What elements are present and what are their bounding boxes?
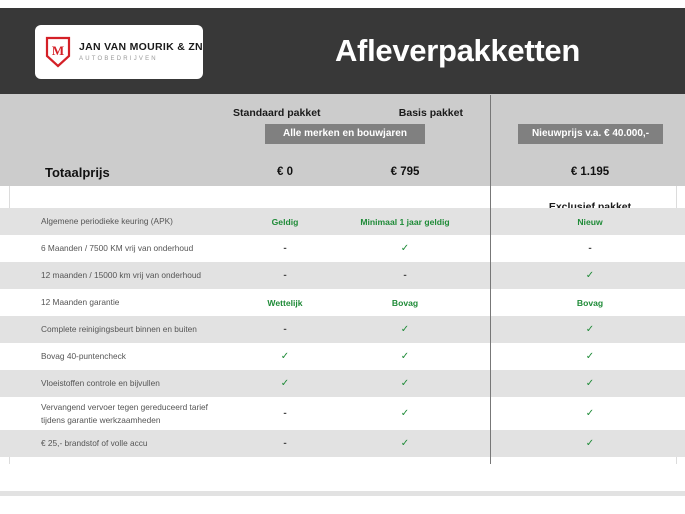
- table-row: Vervangend vervoer tegen gereduceerd tar…: [0, 397, 685, 430]
- cell-basis: ✓: [345, 430, 465, 457]
- badge-alle-merken: Alle merken en bouwjaren: [265, 124, 425, 144]
- table-row: Complete reinigingsbeurt binnen en buite…: [0, 316, 685, 343]
- total-price-standaard: € 0: [230, 166, 340, 178]
- feature-table: Algemene periodieke keuring (APK)GeldigM…: [0, 208, 685, 457]
- cell-standaard: -: [230, 316, 340, 343]
- cell-basis: ✓: [345, 235, 465, 262]
- row-label-line: tijdens garantie werkzaamheden: [41, 414, 208, 426]
- row-label: Bovag 40-puntencheck: [41, 343, 126, 370]
- cell-exclusief: ✓: [495, 262, 685, 289]
- row-label: Algemene periodieke keuring (APK): [41, 208, 173, 235]
- row-label-line: Bovag 40-puntencheck: [41, 350, 126, 362]
- column-heading-standaard: Standaard pakket: [233, 107, 321, 119]
- total-price-row: Totaalprijs € 0 € 795 € 1.195: [0, 158, 685, 186]
- cell-standaard: ✓: [230, 343, 340, 370]
- row-label-line: Vervangend vervoer tegen gereduceerd tar…: [41, 401, 208, 413]
- total-price-basis: € 795: [345, 166, 465, 178]
- table-row: Vloeistoffen controle en bijvullen✓✓✓: [0, 370, 685, 397]
- cell-standaard: -: [230, 235, 340, 262]
- row-label: 12 maanden / 15000 km vrij van onderhoud: [41, 262, 201, 289]
- row-label: Vervangend vervoer tegen gereduceerd tar…: [41, 397, 208, 430]
- row-label: 12 Maanden garantie: [41, 289, 119, 316]
- table-row: Bovag 40-puntencheck✓✓✓: [0, 343, 685, 370]
- cell-exclusief: ✓: [495, 316, 685, 343]
- cell-basis: ✓: [345, 397, 465, 430]
- cell-basis: Minimaal 1 jaar geldig: [345, 208, 465, 235]
- cell-standaard: Geldig: [230, 208, 340, 235]
- table-row: € 25,- brandstof of volle accu-✓✓: [0, 430, 685, 457]
- cell-standaard: Wettelijk: [230, 289, 340, 316]
- cell-exclusief: ✓: [495, 430, 685, 457]
- logo-company-name: JAN VAN MOURIK & ZN: [79, 42, 203, 53]
- table-row: 12 maanden / 15000 km vrij van onderhoud…: [0, 262, 685, 289]
- cell-basis: Bovag: [345, 289, 465, 316]
- logo-tagline: AUTOBEDRIJVEN: [79, 56, 203, 62]
- cell-exclusief: ✓: [495, 343, 685, 370]
- cell-standaard: -: [230, 397, 340, 430]
- shield-icon: M: [45, 36, 71, 68]
- cell-basis: ✓: [345, 316, 465, 343]
- row-label: Complete reinigingsbeurt binnen en buite…: [41, 316, 197, 343]
- cell-exclusief: ✓: [495, 370, 685, 397]
- page-header: M JAN VAN MOURIK & ZN AUTOBEDRIJVEN Afle…: [0, 8, 685, 94]
- row-label-line: Vloeistoffen controle en bijvullen: [41, 377, 160, 389]
- cell-standaard: ✓: [230, 370, 340, 397]
- logo-wordmark: JAN VAN MOURIK & ZN AUTOBEDRIJVEN: [79, 42, 203, 62]
- cell-exclusief: Bovag: [495, 289, 685, 316]
- total-price-label: Totaalprijs: [45, 165, 110, 180]
- page-title: Afleverpakketten: [230, 8, 685, 94]
- row-label: € 25,- brandstof of volle accu: [41, 430, 148, 457]
- cell-basis: ✓: [345, 343, 465, 370]
- table-bottom-rule: [0, 491, 685, 496]
- table-row: 12 Maanden garantieWettelijkBovagBovag: [0, 289, 685, 316]
- table-row: Algemene periodieke keuring (APK)GeldigM…: [0, 208, 685, 235]
- row-label-line: 12 Maanden garantie: [41, 296, 119, 308]
- afleverpakketten-page: M JAN VAN MOURIK & ZN AUTOBEDRIJVEN Afle…: [0, 0, 685, 514]
- company-logo: M JAN VAN MOURIK & ZN AUTOBEDRIJVEN: [35, 25, 203, 79]
- cell-standaard: -: [230, 262, 340, 289]
- row-label-line: Complete reinigingsbeurt binnen en buite…: [41, 323, 197, 335]
- svg-text:M: M: [52, 43, 64, 58]
- cell-exclusief: -: [495, 235, 685, 262]
- badge-nieuwprijs: Nieuwprijs v.a. € 40.000,-: [518, 124, 663, 144]
- cell-exclusief: ✓: [495, 397, 685, 430]
- table-row: 6 Maanden / 7500 KM vrij van onderhoud-✓…: [0, 235, 685, 262]
- table-tail-spacer: [0, 464, 685, 491]
- row-label-line: € 25,- brandstof of volle accu: [41, 437, 148, 449]
- package-headings-left: Standaard pakket Basis pakket: [233, 107, 463, 119]
- row-label: Vloeistoffen controle en bijvullen: [41, 370, 160, 397]
- row-label-line: 12 maanden / 15000 km vrij van onderhoud: [41, 269, 201, 281]
- row-label: 6 Maanden / 7500 KM vrij van onderhoud: [41, 235, 193, 262]
- column-heading-basis: Basis pakket: [399, 107, 463, 119]
- cell-exclusief: Nieuw: [495, 208, 685, 235]
- exclusief-column-divider: [490, 95, 491, 491]
- cell-basis: -: [345, 262, 465, 289]
- row-label-line: Algemene periodieke keuring (APK): [41, 215, 173, 227]
- cell-basis: ✓: [345, 370, 465, 397]
- cell-standaard: -: [230, 430, 340, 457]
- total-price-exclusief: € 1.195: [495, 166, 685, 178]
- row-label-line: 6 Maanden / 7500 KM vrij van onderhoud: [41, 242, 193, 254]
